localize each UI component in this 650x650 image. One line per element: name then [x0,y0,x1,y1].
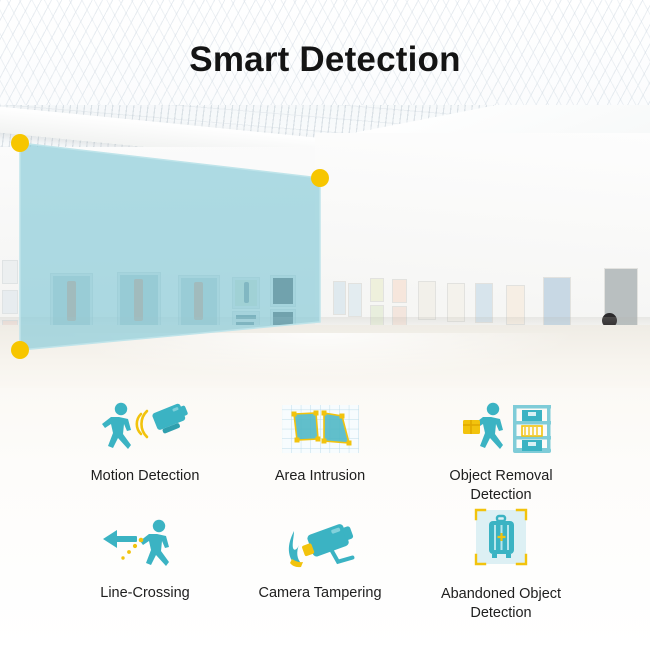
feature-label: Camera Tampering [215,584,425,603]
header-banner: Smart Detection [0,0,650,105]
detection-zone-overlay[interactable] [0,85,650,395]
feature-area-intrusion[interactable]: Area Intrusion [215,396,425,486]
feature-grid: Motion Detection [0,388,650,650]
feature-label: Object RemovalDetection [396,467,606,504]
detection-zone-polygon[interactable] [20,143,320,350]
camera-tampering-icon [215,513,425,575]
smart-detection-page: Smart Detection [0,0,650,650]
gallery-scene-photo [0,85,650,395]
feature-label-line1: Abandoned Object [441,586,561,602]
feature-label-line1: Object Removal [449,468,552,484]
feature-abandoned-object[interactable]: Abandoned ObjectDetection [396,506,606,622]
feature-list-section: Motion Detection [0,388,650,650]
area-intrusion-icon [215,396,425,458]
feature-camera-tampering[interactable]: Camera Tampering [215,513,425,603]
corner-handle-top-left[interactable] [11,134,29,152]
object-removal-icon [396,396,606,458]
abandoned-object-icon [396,506,606,576]
feature-label-line2: Detection [470,605,531,621]
page-title: Smart Detection [0,40,650,80]
corner-handle-bottom-left[interactable] [11,341,29,359]
feature-label: Abandoned ObjectDetection [396,585,606,622]
feature-label: Area Intrusion [215,467,425,486]
feature-object-removal[interactable]: Object RemovalDetection [396,396,606,504]
corner-handle-top-right[interactable] [311,169,329,187]
feature-label-line2: Detection [470,487,531,503]
